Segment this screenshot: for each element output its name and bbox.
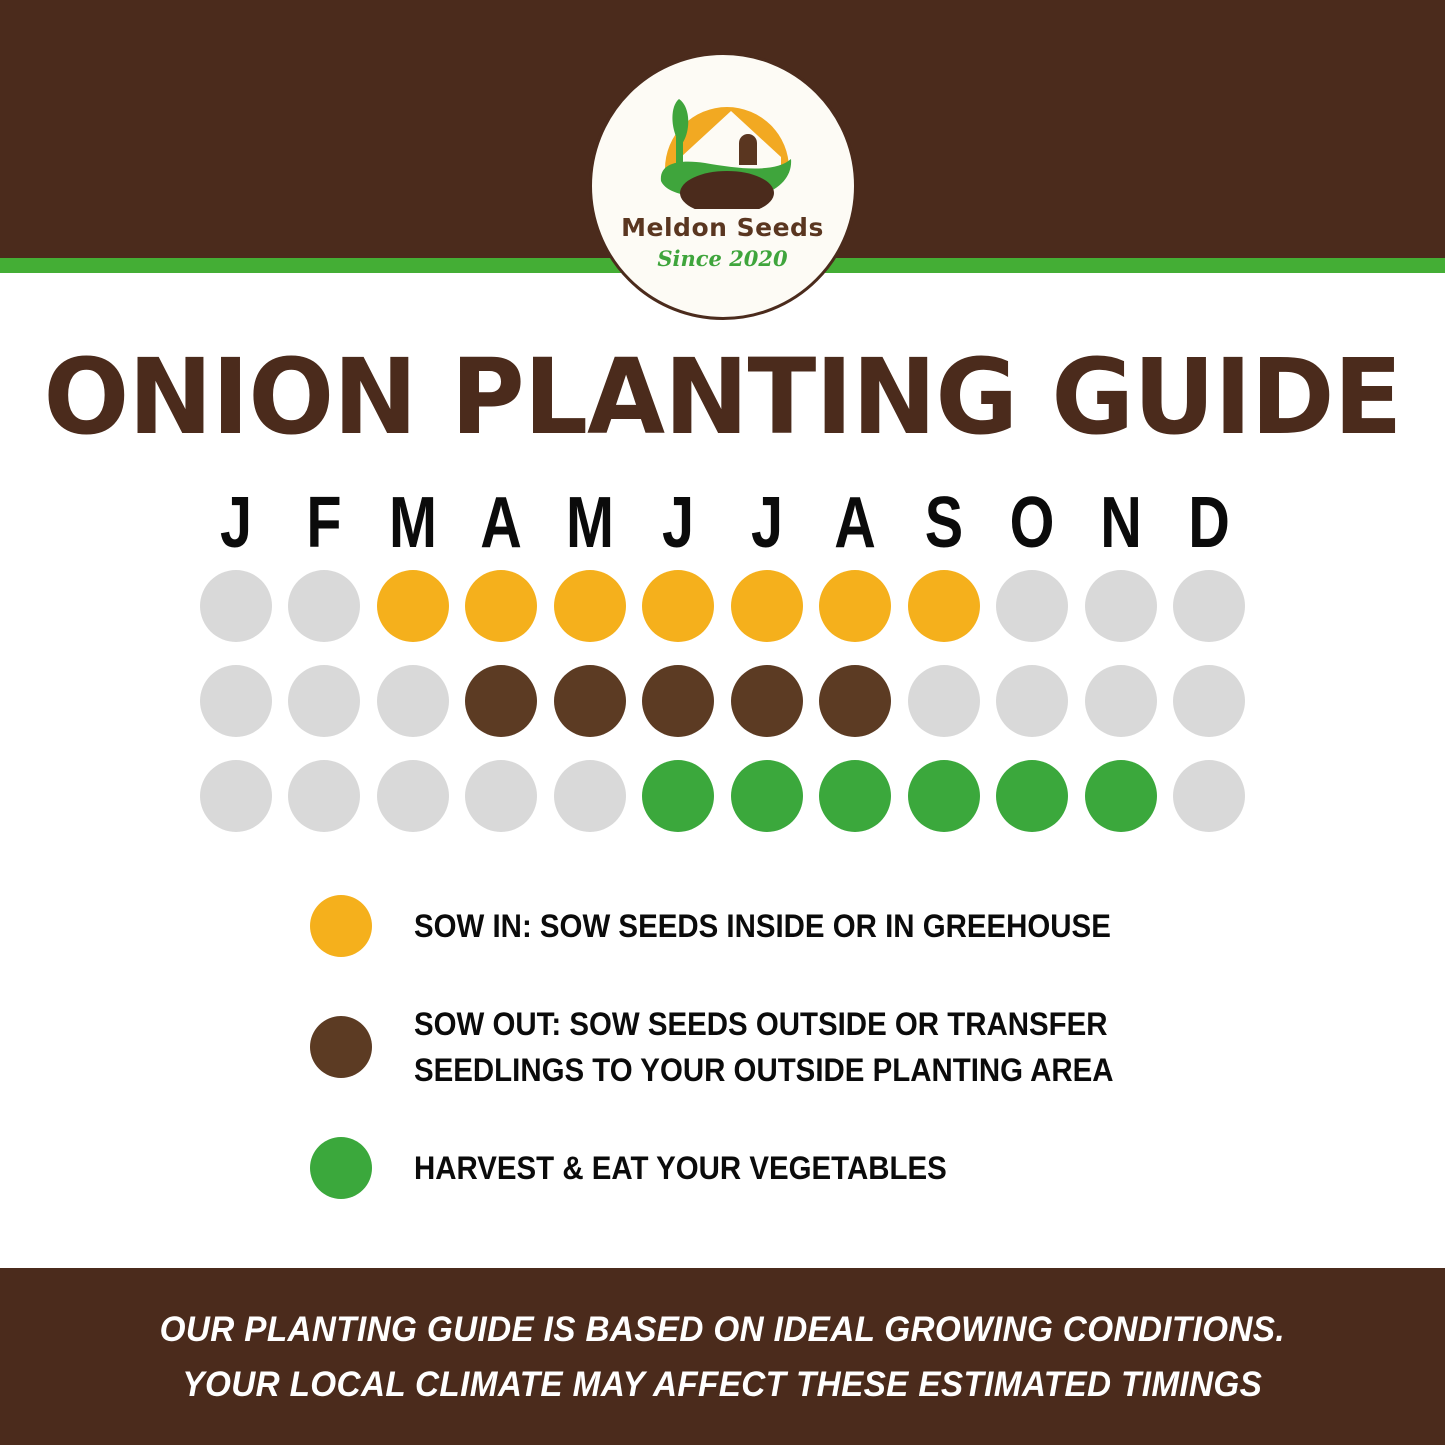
footer-line-1: OUR PLANTING GUIDE IS BASED ON IDEAL GRO…: [160, 1302, 1285, 1357]
legend-label-sow-out: SOW OUT: SOW SEEDS OUTSIDE OR TRANSFERSE…: [414, 1001, 1114, 1093]
legend-label-line: SEEDLINGS TO YOUR OUTSIDE PLANTING AREA: [414, 1047, 1114, 1093]
month-label-february: F: [295, 488, 353, 558]
brand-name: Meldon Seeds: [621, 213, 824, 242]
month-label-june: J: [649, 488, 707, 558]
dot-sow-out-january: [200, 665, 272, 737]
legend-label-line: SOW IN: SOW SEEDS INSIDE OR IN GREEHOUSE: [414, 903, 1111, 949]
month-label-january: J: [207, 488, 265, 558]
page-title: ONION PLANTING GUIDE: [22, 345, 1424, 449]
dot-sow-in-june: [642, 570, 714, 642]
legend-dot-sow-in: [310, 895, 372, 957]
dot-sow-in-july: [731, 570, 803, 642]
legend: SOW IN: SOW SEEDS INSIDE OR IN GREEHOUSE…: [310, 895, 1310, 1243]
dot-sow-out-june: [642, 665, 714, 737]
dot-sow-in-november: [1085, 570, 1157, 642]
month-label-may: M: [561, 488, 619, 558]
calendar-row-sow-in: [200, 570, 1246, 642]
calendar-row-harvest: [200, 760, 1246, 832]
dot-sow-out-november: [1085, 665, 1157, 737]
greenhouse-logo-icon: [635, 77, 811, 209]
dot-sow-out-may: [554, 665, 626, 737]
month-header-row: JFMAMJJASOND: [200, 488, 1246, 558]
dot-sow-out-february: [288, 665, 360, 737]
month-label-april: A: [472, 488, 530, 558]
dot-sow-in-september: [908, 570, 980, 642]
brand-tagline: Since 2020: [657, 246, 787, 271]
dot-sow-out-october: [996, 665, 1068, 737]
legend-dot-sow-out: [310, 1016, 372, 1078]
dot-sow-out-december: [1173, 665, 1245, 737]
dot-sow-out-september: [908, 665, 980, 737]
dot-sow-in-october: [996, 570, 1068, 642]
dot-sow-out-march: [377, 665, 449, 737]
dot-harvest-may: [554, 760, 626, 832]
dot-harvest-october: [996, 760, 1068, 832]
planting-guide-poster: Meldon Seeds Since 2020 ONION PLANTING G…: [0, 0, 1445, 1445]
month-label-october: O: [1003, 488, 1061, 558]
dot-sow-in-february: [288, 570, 360, 642]
dot-harvest-march: [377, 760, 449, 832]
legend-label-line: HARVEST & EAT YOUR VEGETABLES: [414, 1145, 947, 1191]
main-content: ONION PLANTING GUIDE JFMAMJJASOND SOW IN…: [0, 273, 1445, 1268]
month-label-september: S: [915, 488, 973, 558]
legend-label-sow-in: SOW IN: SOW SEEDS INSIDE OR IN GREEHOUSE: [414, 903, 1111, 949]
legend-item-sow-out: SOW OUT: SOW SEEDS OUTSIDE OR TRANSFERSE…: [310, 1001, 1310, 1093]
dot-harvest-july: [731, 760, 803, 832]
month-label-august: A: [826, 488, 884, 558]
dot-harvest-april: [465, 760, 537, 832]
legend-item-harvest: HARVEST & EAT YOUR VEGETABLES: [310, 1137, 1310, 1199]
legend-item-sow-in: SOW IN: SOW SEEDS INSIDE OR IN GREEHOUSE: [310, 895, 1310, 957]
dot-sow-in-january: [200, 570, 272, 642]
dot-sow-out-august: [819, 665, 891, 737]
footer-band: OUR PLANTING GUIDE IS BASED ON IDEAL GRO…: [0, 1268, 1445, 1445]
legend-label-line: SOW OUT: SOW SEEDS OUTSIDE OR TRANSFER: [414, 1001, 1114, 1047]
dot-sow-in-december: [1173, 570, 1245, 642]
brand-logo-badge: Meldon Seeds Since 2020: [589, 52, 857, 320]
month-label-july: J: [738, 488, 796, 558]
dot-harvest-september: [908, 760, 980, 832]
dot-harvest-june: [642, 760, 714, 832]
month-label-march: M: [384, 488, 442, 558]
dot-sow-in-may: [554, 570, 626, 642]
dot-sow-in-august: [819, 570, 891, 642]
dot-harvest-december: [1173, 760, 1245, 832]
month-label-november: N: [1092, 488, 1150, 558]
month-label-december: D: [1181, 488, 1239, 558]
dot-harvest-january: [200, 760, 272, 832]
dot-sow-in-march: [377, 570, 449, 642]
legend-label-harvest: HARVEST & EAT YOUR VEGETABLES: [414, 1145, 947, 1191]
calendar-row-sow-out: [200, 665, 1246, 737]
legend-dot-harvest: [310, 1137, 372, 1199]
footer-line-2: YOUR LOCAL CLIMATE MAY AFFECT THESE ESTI…: [183, 1357, 1263, 1412]
planting-calendar: JFMAMJJASOND: [200, 488, 1246, 855]
dot-sow-out-july: [731, 665, 803, 737]
dot-sow-in-april: [465, 570, 537, 642]
dot-harvest-november: [1085, 760, 1157, 832]
dot-sow-out-april: [465, 665, 537, 737]
dot-harvest-february: [288, 760, 360, 832]
dot-harvest-august: [819, 760, 891, 832]
